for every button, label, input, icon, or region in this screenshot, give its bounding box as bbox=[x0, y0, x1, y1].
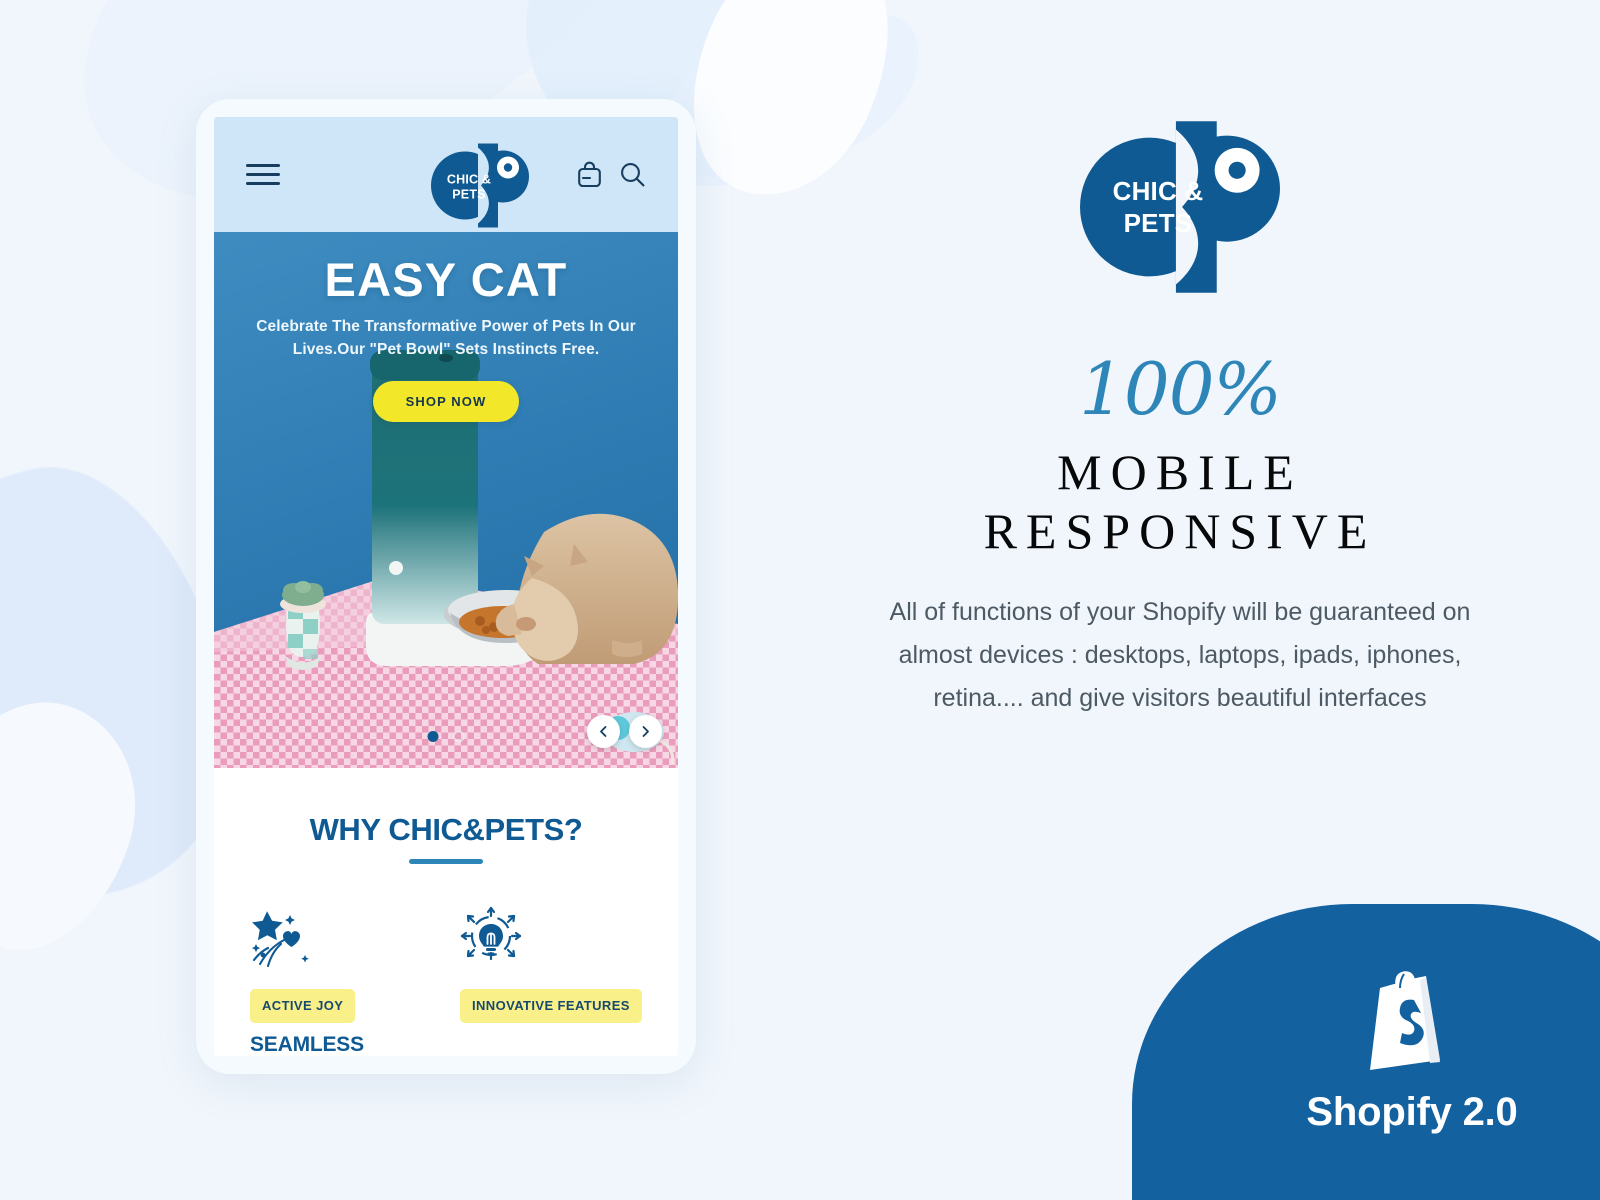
carousel-prev-button[interactable] bbox=[587, 715, 620, 748]
shop-now-button[interactable]: SHOP NOW bbox=[373, 381, 520, 422]
brush-stroke-decoration bbox=[0, 675, 164, 975]
phone-mockup: CHIC & PETS bbox=[196, 99, 696, 1074]
feature-card-active-joy[interactable]: ACTIVE JOY SEAMLESS bbox=[250, 906, 432, 1056]
sparkle-star-heart-icon bbox=[250, 906, 432, 968]
feature-tag-innovative-features: INNOVATIVE FEATURES bbox=[460, 989, 642, 1023]
chevron-left-icon bbox=[597, 725, 610, 738]
headline: MOBILE RESPONSIVE bbox=[760, 443, 1600, 561]
hamburger-menu-icon[interactable] bbox=[246, 158, 280, 191]
lightbulb-idea-icon bbox=[460, 906, 642, 968]
carousel-dots bbox=[428, 731, 465, 742]
feature-subtitle-seamless: SEAMLESS bbox=[250, 1033, 432, 1056]
search-icon[interactable] bbox=[619, 161, 646, 188]
carousel-next-button[interactable] bbox=[629, 715, 662, 748]
title-underline bbox=[409, 859, 483, 864]
hero-subtitle: Celebrate The Transformative Power of Pe… bbox=[240, 316, 652, 362]
feature-grid: ACTIVE JOY SEAMLESS bbox=[240, 906, 652, 1056]
chevron-right-icon bbox=[639, 725, 652, 738]
description-text: All of functions of your Shopify will be… bbox=[860, 591, 1500, 720]
shopify-bag-icon bbox=[1364, 966, 1460, 1074]
carousel-dot-2[interactable] bbox=[454, 731, 465, 742]
headline-line-2: RESPONSIVE bbox=[760, 502, 1600, 561]
brand-logo: CHIC & PETS bbox=[760, 118, 1600, 301]
shopify-badge-label: Shopify 2.0 bbox=[1306, 1090, 1517, 1135]
site-header: CHIC & PETS bbox=[214, 117, 678, 232]
carousel-dot-1[interactable] bbox=[428, 731, 439, 742]
header-icon-group bbox=[577, 161, 646, 188]
phone-screen: CHIC & PETS bbox=[214, 117, 678, 1056]
percent-label: 100% bbox=[760, 353, 1600, 425]
poster-canvas: CHIC & PETS bbox=[0, 0, 1600, 1200]
feature-tag-active-joy: ACTIVE JOY bbox=[250, 989, 355, 1023]
feature-card-innovative-features[interactable]: INNOVATIVE FEATURES bbox=[460, 906, 642, 1056]
headline-line-1: MOBILE bbox=[760, 443, 1600, 502]
hero-banner: EASY CAT Celebrate The Transformative Po… bbox=[214, 232, 678, 768]
hero-content: EASY CAT Celebrate The Transformative Po… bbox=[214, 232, 678, 422]
carousel-arrows bbox=[587, 715, 662, 748]
hero-title: EASY CAT bbox=[240, 256, 652, 303]
why-section: WHY CHIC&PETS? bbox=[214, 768, 678, 1056]
shopping-bag-icon[interactable] bbox=[577, 161, 602, 188]
site-logo[interactable]: CHIC & PETS bbox=[431, 143, 529, 232]
why-section-title: WHY CHIC&PETS? bbox=[240, 812, 652, 848]
